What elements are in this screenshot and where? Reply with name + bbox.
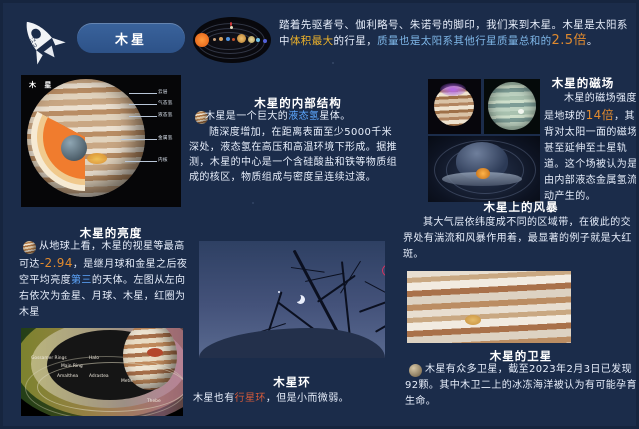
page-title-pill[interactable]: 木星	[77, 23, 185, 53]
section-body-magnet: 木星的磁场强度是地球的14倍，其背对太阳一面的磁场甚至延伸至土星轨道。这个场被认…	[544, 91, 638, 205]
ring-label-gossamer: Gossamer Rings	[31, 356, 67, 361]
section-heading-ring: 木星环	[199, 374, 385, 390]
label-cloud-layer: 云层	[158, 89, 168, 95]
jupiter-marker-circle	[382, 263, 385, 278]
intro-highlight-mass: 质量也是太阳系其他行星质量总和的	[377, 35, 551, 47]
magnet-body-b: ，其背对太阳一面的磁场甚至延伸至土星轨道。这个场被认为是由内部液态金属氢流动产生…	[544, 111, 638, 202]
section-body-moons: 木星有众多卫星，截至2023年2月3日已发现92颗。其中木卫二上的冰冻海洋被认为…	[405, 362, 637, 410]
intro-text-1: 踏着先驱者号、伽利略号、朱诺号的脚印，我们来到木星。木星是	[279, 19, 595, 31]
brightness-highlight-third: 第三	[71, 275, 92, 286]
intro-paragraph: 踏着先驱者号、伽利略号、朱诺号的脚印，我们来到木星。木星是太阳系中体积最大的行星…	[279, 17, 631, 49]
ring-label-adrastea: Adrastea	[89, 374, 109, 379]
section-body-storm: 其大气层依纬度成不同的区域带，在彼此的交界处有湍流和风暴作用着，最显著的例子就是…	[403, 215, 637, 263]
label-liquid-hydrogen: 液态氢	[158, 112, 173, 118]
intro-highlight-2-5x: 2.5倍	[552, 33, 587, 48]
ring-label-halo: Halo	[89, 356, 99, 361]
intro-highlight-largest-volume: 体积最大	[290, 35, 334, 47]
intro-text-3: 的行星，	[334, 35, 378, 47]
ring-body-b: ，但是小而微弱。	[266, 393, 349, 404]
internal-line1-b: 星体。	[319, 111, 350, 122]
intro-text-4: 。	[587, 35, 598, 47]
figure-caption-internal: 木 星	[29, 80, 54, 90]
night-sky-jupiter-photo	[199, 241, 385, 358]
section-body-ring: 木星也有行星环，但是小而微弱。	[193, 391, 393, 407]
ring-label-metis: Metis	[121, 379, 133, 384]
ring-label-thebe: Thebe	[147, 399, 161, 404]
internal-highlight-liquid-hydrogen: 液态氢	[288, 111, 319, 122]
label-core: 内核	[158, 157, 168, 163]
section-body-internal-rest: 随深度增加，在距离表面至少5000千米深处，液态氢在高压和高温环境下形成。据推测…	[189, 125, 401, 185]
venus-point	[278, 291, 280, 293]
rocket-icon: 52 AU	[15, 15, 67, 65]
section-body-brightness: 从地球上看，木星的视星等最高可达-2.94，是继月球和金星之后夜空平均亮度第三的…	[19, 239, 191, 321]
jupiter-internal-structure-diagram: 木 星 云层 气态氢 液态氢 金属氢 内核	[21, 75, 181, 207]
solar-system-icon	[193, 17, 271, 63]
brightness-highlight-magnitude: -2.94	[40, 256, 73, 270]
internal-line1-a: 木星是一个巨大的	[205, 111, 288, 122]
jupiter-aurora-photo	[428, 79, 481, 134]
section-body-internal: 木星是一个巨大的液态氢星体。	[189, 109, 401, 124]
ring-body-a: 木星也有	[193, 393, 235, 404]
jupiter-cloud-bands-photo	[407, 271, 571, 343]
page-title: 木星	[115, 29, 147, 48]
section-heading-magnet: 木星的磁场	[531, 75, 635, 91]
jupiter-infographic-poster: 52 AU 木星 踏着先驱者号、伽利略号、朱诺号的脚印，我们来到木星。木星是太阳…	[0, 0, 639, 429]
ring-label-amalthea: Amalthea	[57, 374, 78, 379]
label-metallic-hydrogen: 金属氢	[158, 135, 173, 141]
label-gaseous-hydrogen: 气态氢	[158, 100, 173, 106]
ring-label-main-ring: Main Ring	[61, 364, 83, 369]
section-heading-storm: 木星上的风暴	[407, 199, 635, 215]
magnet-highlight-14x: 14倍	[586, 108, 614, 122]
jupiter-ring-diagram: Gossamer Rings Main Ring Halo Amalthea A…	[21, 328, 183, 416]
crescent-moon	[292, 293, 301, 302]
ring-highlight-planetary-ring: 行星环	[235, 393, 266, 404]
jupiter-magnetosphere-diagram	[428, 136, 540, 202]
